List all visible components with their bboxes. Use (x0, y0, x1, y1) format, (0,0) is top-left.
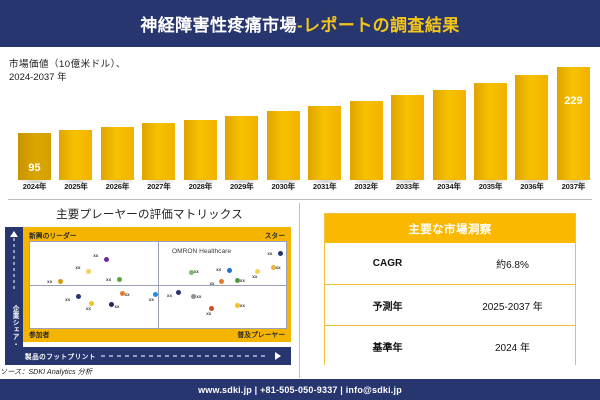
matrix-data-point-label: xx (125, 292, 130, 297)
x-axis-tick-label: 2028年 (184, 181, 217, 197)
y-axis-arrow-icon (10, 231, 18, 237)
key-market-insights-panel: 主要な市場洞察 CAGR約6.8%予測年2025-2037 年基準年2024 年 (324, 213, 576, 365)
bar (350, 101, 383, 180)
matrix-data-point-label: xx (114, 304, 119, 309)
matrix-data-point (176, 290, 181, 295)
quadrant-label-emerging-leaders: 新興のリーダー (29, 230, 77, 240)
x-axis-arrow-icon (275, 352, 281, 360)
bar-column (391, 62, 424, 180)
page-header: 神経障害性疼痛市場-レポートの調査結果 (0, 0, 600, 47)
matrix-data-point-label: xx (75, 265, 80, 270)
matrix-data-point-label: xx (240, 303, 245, 308)
bar (267, 111, 300, 180)
bar-column: 229 (557, 62, 590, 180)
matrix-x-axis-label: 製品のフットプリント (25, 351, 96, 361)
insight-row: 基準年2024 年 (325, 325, 575, 366)
matrix-data-point (86, 269, 91, 274)
bar (391, 95, 424, 180)
x-axis-dashed-line (101, 356, 267, 357)
insight-key: 基準年 (325, 339, 450, 354)
insight-row: 予測年2025-2037 年 (325, 284, 575, 325)
matrix-data-point (219, 279, 224, 284)
chart-bars: 95229 (18, 62, 590, 180)
bar-column (101, 62, 134, 180)
bar (225, 116, 258, 180)
footer-contact-text: www.sdki.jp | +81-505-050-9337 | info@sd… (198, 385, 402, 395)
bar-column (433, 62, 466, 180)
insights-rows: CAGR約6.8%予測年2025-2037 年基準年2024 年 (325, 243, 575, 366)
x-axis-tick-label: 2027年 (142, 181, 175, 197)
bar-column: 95 (18, 62, 51, 180)
matrix-data-point-label: xx (267, 251, 272, 256)
page-title: 神経障害性疼痛市場-レポートの調査結果 (140, 11, 459, 36)
quadrant-label-pervasive-players: 普及プレーヤー (237, 329, 285, 339)
bar (308, 106, 341, 180)
matrix-data-point-label: xx (65, 297, 70, 302)
matrix-data-point-label: xx (206, 311, 211, 316)
matrix-data-point-label: xx (194, 269, 199, 274)
matrix-data-point-label: xx (106, 277, 111, 282)
market-value-bar-chart: 市場価値（10億米ドル）、 2024-2037 年 95229 2024年202… (0, 47, 600, 199)
matrix-data-point-label: xx (86, 306, 91, 311)
bar-column (350, 62, 383, 180)
bar-column (142, 62, 175, 180)
source-note: ソース：SDKI Analytics 分析 (0, 367, 92, 377)
matrix-data-point-label: xx (47, 279, 52, 284)
bar-column (59, 62, 92, 180)
bar (101, 127, 134, 180)
x-axis-tick-label: 2031年 (308, 181, 341, 197)
bar-column (184, 62, 217, 180)
x-axis-tick-label: 2035年 (474, 181, 507, 197)
quadrant-divider-horizontal (30, 285, 286, 286)
matrix-data-point-label: xx (240, 278, 245, 283)
chart-x-axis-labels: 2024年2025年2026年2027年2028年2029年2030年2031年… (18, 181, 590, 197)
bar (433, 90, 466, 180)
bar-column (308, 62, 341, 180)
bar (184, 120, 217, 180)
insight-value: 2025-2037 年 (450, 298, 575, 313)
x-axis-tick-label: 2030年 (267, 181, 300, 197)
matrix-data-point (76, 294, 81, 299)
x-axis-tick-label: 2032年 (350, 181, 383, 197)
bar (515, 75, 548, 180)
matrix-data-point-label: xx (209, 281, 214, 286)
bar-column (474, 62, 507, 180)
player-assessment-matrix-panel: 主要プレーヤーの評価マトリックス 企業シェア・収益 新興のリーダー スター 参加… (0, 201, 299, 378)
x-axis-tick-label: 2026年 (101, 181, 134, 197)
x-axis-tick-label: 2024年 (18, 181, 51, 197)
matrix-y-axis: 企業シェア・収益 (5, 227, 23, 365)
insight-key: 予測年 (325, 298, 450, 313)
bar-column (267, 62, 300, 180)
matrix-scatter-area: OMRON Healthcare xxxxxxxxxxxxxxxxxxxxxxx… (29, 241, 287, 329)
quadrant-label-participants: 参加者 (29, 329, 49, 339)
matrix-box: 新興のリーダー スター 参加者 普及プレーヤー OMRON Healthcare… (23, 227, 291, 342)
matrix-data-point (104, 257, 109, 262)
bar-column (515, 62, 548, 180)
highlight-company-label: OMRON Healthcare (172, 248, 231, 255)
matrix-data-point (278, 251, 283, 256)
insights-header: 主要な市場洞察 (325, 214, 575, 243)
insight-key: CAGR (325, 258, 450, 269)
insight-value: 2024 年 (450, 339, 575, 354)
matrix-data-point-label: xx (93, 253, 98, 258)
matrix-title: 主要プレーヤーの評価マトリックス (0, 206, 299, 222)
insight-value: 約6.8% (450, 256, 575, 271)
matrix-data-point-label: xx (252, 274, 257, 279)
matrix-data-point-label: xx (196, 294, 201, 299)
matrix-data-point-label: xx (149, 297, 154, 302)
matrix-data-point-label: xx (216, 267, 221, 272)
x-axis-tick-label: 2037年 (557, 181, 590, 197)
bar: 229 (557, 67, 590, 180)
insights-header-text: 主要な市場洞察 (408, 221, 491, 237)
matrix-data-point-label: xx (276, 265, 281, 270)
insight-row: CAGR約6.8% (325, 243, 575, 284)
chart-plot-area: 95229 2024年2025年2026年2027年2028年2029年2030… (18, 47, 590, 199)
bar: 95 (18, 133, 51, 180)
bar-value-label: 95 (18, 162, 51, 174)
matrix-data-point (117, 277, 122, 282)
bar (142, 123, 175, 180)
matrix-data-point-label: xx (167, 293, 172, 298)
x-axis-tick-label: 2025年 (59, 181, 92, 197)
bar-value-label: 229 (557, 95, 590, 107)
x-axis-tick-label: 2033年 (391, 181, 424, 197)
bar (59, 130, 92, 180)
page-title-main: 神経障害性疼痛市場 (140, 16, 297, 35)
matrix-data-point (227, 268, 232, 273)
quadrant-label-stars: スター (265, 230, 285, 240)
x-axis-tick-label: 2034年 (433, 181, 466, 197)
report-infographic-page: 神経障害性疼痛市場-レポートの調査結果 市場価値（10億米ドル）、 2024-2… (0, 0, 600, 400)
page-footer: www.sdki.jp | +81-505-050-9337 | info@sd… (0, 379, 600, 400)
x-axis-tick-label: 2029年 (225, 181, 258, 197)
section-divider-horizontal (8, 199, 592, 200)
section-divider-vertical (299, 203, 300, 378)
x-axis-tick-label: 2036年 (515, 181, 548, 197)
page-title-accent: -レポートの調査結果 (297, 16, 460, 35)
bar (474, 83, 507, 180)
bar-column (225, 62, 258, 180)
matrix-x-axis: 製品のフットプリント (5, 347, 291, 365)
matrix-data-point (58, 279, 63, 284)
y-axis-dashed-line (14, 238, 15, 290)
